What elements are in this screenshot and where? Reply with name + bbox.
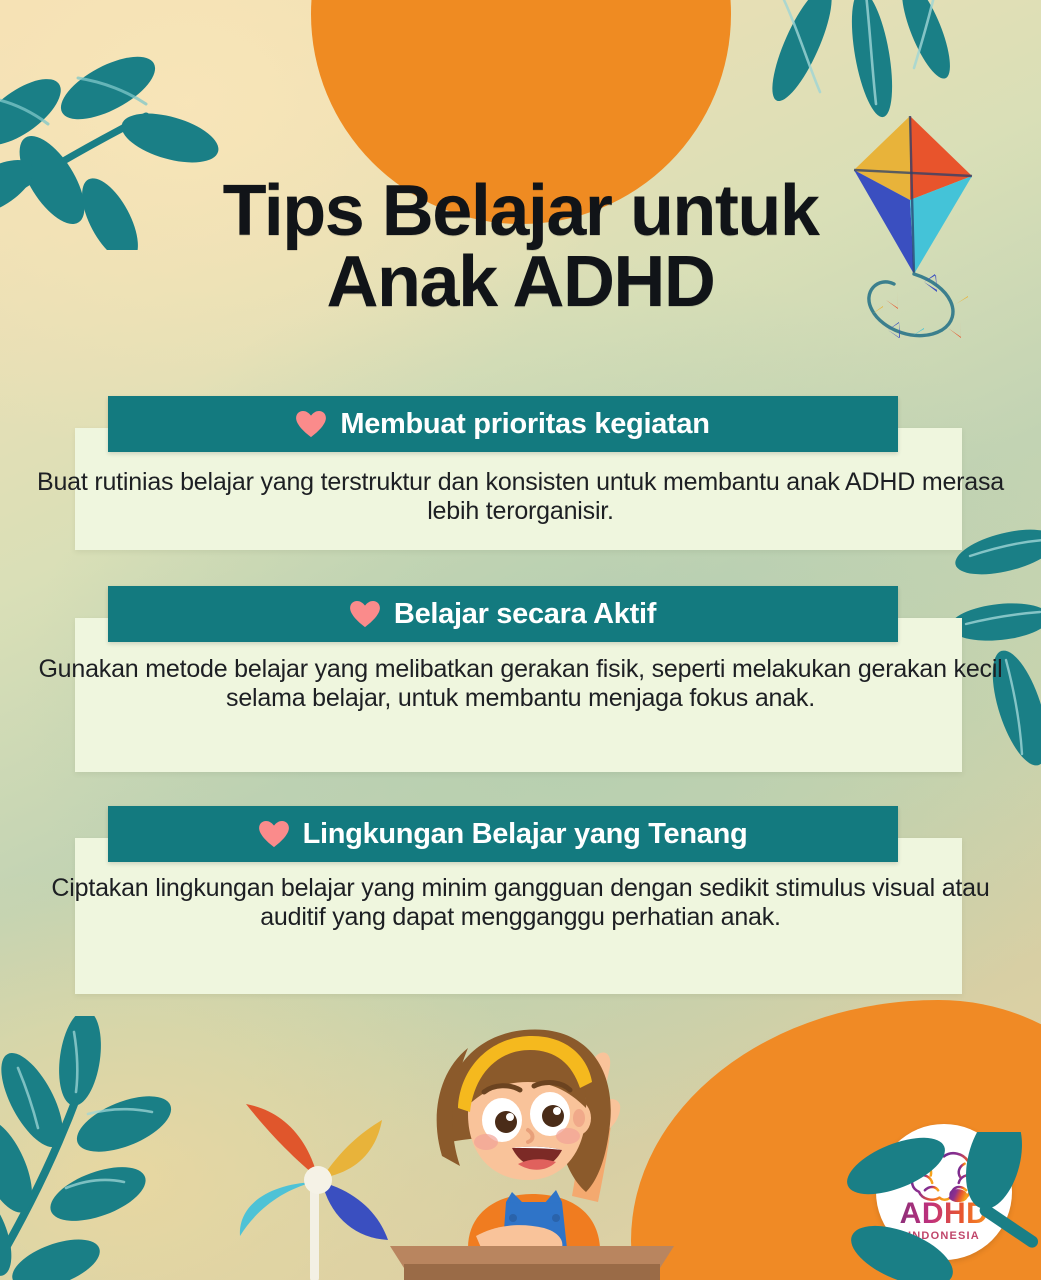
heart-icon (259, 821, 289, 848)
tip-card-title: Lingkungan Belajar yang Tenang (303, 818, 748, 851)
tip-card-header: Membuat prioritas kegiatan (108, 396, 898, 452)
tip-card-text: Buat rutinias belajar yang terstruktur d… (0, 468, 1041, 527)
tip-card-title: Membuat prioritas kegiatan (340, 408, 709, 441)
tip-card-header: Belajar secara Aktif (108, 586, 898, 642)
tip-card-text: Gunakan metode belajar yang melibatkan g… (0, 655, 1041, 714)
heart-icon (350, 601, 380, 628)
tip-card-text: Ciptakan lingkungan belajar yang minim g… (0, 874, 1041, 933)
page-title: Tips Belajar untuk Anak ADHD (0, 176, 1041, 319)
leaf-branch-bottom-left-icon (0, 1016, 224, 1280)
page-title-line-1: Tips Belajar untuk (0, 176, 1041, 247)
heart-icon (296, 411, 326, 438)
leaf-cluster-bottom-right-icon (844, 1132, 1041, 1280)
page-title-line-2: Anak ADHD (0, 247, 1041, 318)
tip-card-title: Belajar secara Aktif (394, 598, 656, 631)
tip-card-header: Lingkungan Belajar yang Tenang (108, 806, 898, 862)
infographic-poster: Tips Belajar untuk Anak ADHD Membuat pri… (0, 0, 1041, 1280)
girl-raising-hand-at-desk-illustration (372, 996, 692, 1280)
